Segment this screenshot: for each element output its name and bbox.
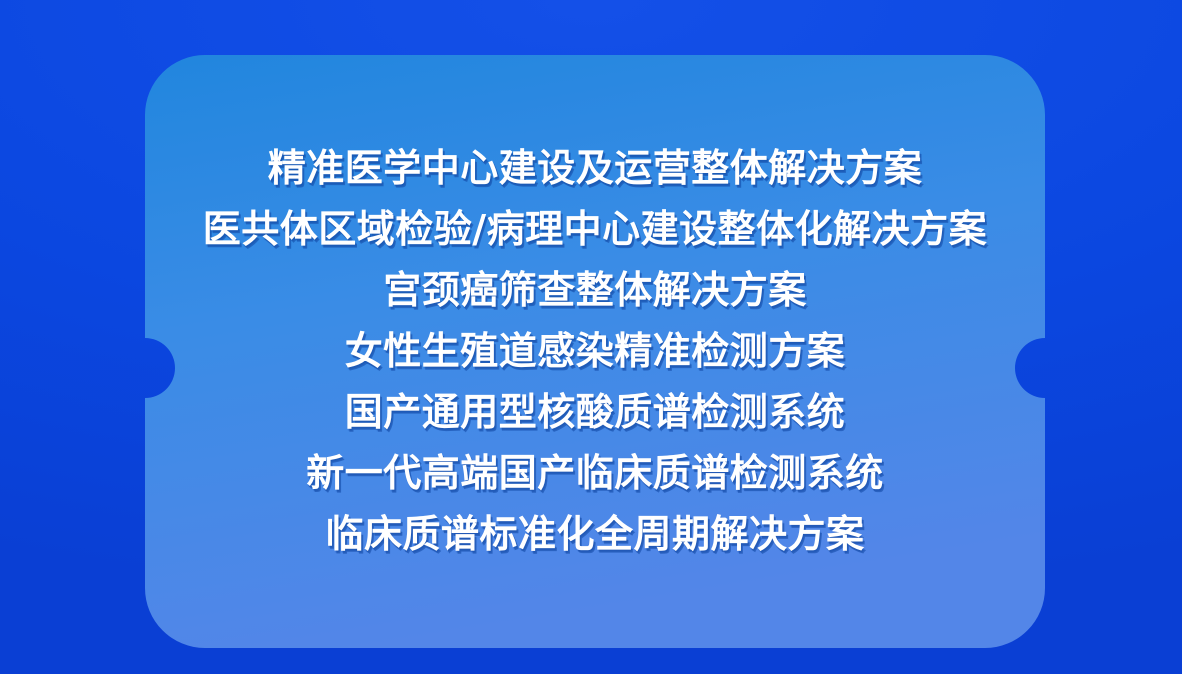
solution-line: 国产通用型核酸质谱检测系统 <box>345 384 846 441</box>
solution-line: 精准医学中心建设及运营整体解决方案 <box>268 140 923 197</box>
solution-line: 宫颈癌筛查整体解决方案 <box>383 262 807 319</box>
solution-line: 新一代高端国产临床质谱检测系统 <box>306 445 884 502</box>
solution-line: 女性生殖道感染精准检测方案 <box>345 323 846 380</box>
banner-stage: 精准医学中心建设及运营整体解决方案 医共体区域检验/病理中心建设整体化解决方案 … <box>0 0 1182 674</box>
solutions-card: 精准医学中心建设及运营整体解决方案 医共体区域检验/病理中心建设整体化解决方案 … <box>145 55 1045 648</box>
solution-line: 临床质谱标准化全周期解决方案 <box>325 506 864 563</box>
solution-line: 医共体区域检验/病理中心建设整体化解决方案 <box>203 201 987 258</box>
